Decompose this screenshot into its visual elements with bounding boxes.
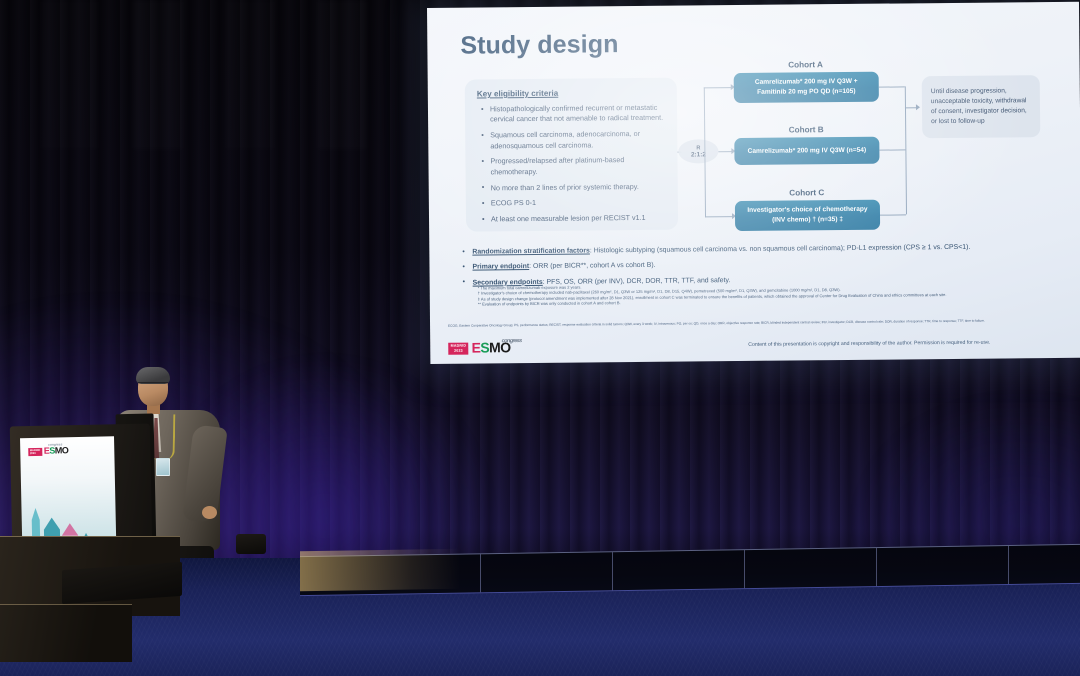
footnotes-block: * The maximum total camrelizumab exposur… — [478, 280, 1038, 307]
riser-seam — [876, 548, 877, 586]
endpoint-label: Primary endpoint — [472, 263, 529, 271]
list-item: Histopathologically confirmed recurrent … — [481, 103, 667, 126]
speaker-badge — [156, 458, 170, 476]
riser-seam — [744, 550, 745, 588]
eligibility-list: Histopathologically confirmed recurrent … — [481, 103, 668, 225]
copyright-notice: Content of this presentation is copyrigh… — [748, 340, 990, 348]
slide-title: Study design — [460, 30, 618, 61]
esmo-wordmark: ESMO congress — [472, 340, 511, 354]
esmo-congress-logo: MADRID 2023 ESMO congress — [448, 336, 510, 355]
eligibility-heading: Key eligibility criteria — [477, 88, 677, 99]
conference-hall-scene: Study design Key eligibility criteria Hi… — [0, 0, 1080, 676]
esmo-letter-m: M — [489, 339, 500, 355]
connector-line — [879, 149, 905, 150]
list-item: At least one measurable lesion per RECIS… — [482, 213, 668, 225]
key-eligibility-criteria-panel: Key eligibility criteria Histopathologic… — [465, 78, 678, 232]
podium-madrid-badge: MADRID 2023 — [28, 447, 42, 455]
cohort-a-label: Cohort A — [736, 60, 876, 70]
presentation-slide: Study design Key eligibility criteria Hi… — [427, 2, 1080, 364]
list-item: Squamous cell carcinoma, adenocarcinoma,… — [481, 129, 667, 152]
connector-line — [704, 87, 732, 88]
riser-seam — [1008, 546, 1009, 584]
connector-line — [718, 151, 732, 152]
podium-madrid-line2: 2023 — [30, 451, 40, 454]
podium-esmo-logo: MADRID 2023 ESMO — [28, 446, 68, 456]
cohort-a-box: Camrelizumab* 200 mg IV Q3W + Famitinib … — [734, 72, 879, 103]
connector-arrow — [916, 104, 920, 110]
connector-line — [880, 214, 906, 215]
cohort-c-box: Investigator's choice of chemotherapy (I… — [735, 200, 880, 231]
endpoint-text: : ORR (per BICR**, cohort A vs cohort B)… — [529, 262, 655, 270]
cohort-b-box: Camrelizumab* 200 mg IV Q3W (n=54) — [734, 137, 879, 165]
connector-line — [905, 86, 907, 214]
list-item: Progressed/relapsed after platinum-based… — [481, 155, 667, 178]
glasses-icon — [138, 382, 168, 388]
endpoint-label: Randomization stratification factors — [472, 247, 590, 255]
projection-screen: Study design Key eligibility criteria Hi… — [427, 2, 1080, 364]
list-item: Primary endpoint: ORR (per BICR**, cohor… — [459, 257, 1059, 272]
list-item: Randomization stratification factors: Hi… — [459, 242, 1059, 257]
ceiling-lighting-rig — [40, 0, 460, 150]
projection-screen-surface: Study design Key eligibility criteria Hi… — [427, 2, 1080, 364]
connector-line — [705, 216, 733, 217]
esmo-letter-s: S — [480, 339, 489, 355]
randomization-node: R 2:1:2 — [678, 139, 718, 163]
madrid-2023-badge: MADRID 2023 — [448, 343, 468, 355]
list-item: ECOG PS 0-1 — [482, 197, 668, 209]
esmo-congress-text: congress — [501, 334, 521, 348]
endpoint-text: : Histologic subtyping (squamous cell ca… — [590, 244, 970, 255]
cohort-c-label: Cohort C — [737, 188, 877, 198]
riser-seam — [612, 552, 613, 590]
podium-esmo-wordmark: ESMO — [44, 446, 69, 456]
riser-seam — [480, 554, 481, 592]
list-item: No more than 2 lines of prior systemic t… — [482, 181, 668, 193]
stage-floor-speaker — [236, 534, 266, 554]
connector-line — [879, 86, 905, 87]
madrid-badge-line2: 2023 — [451, 349, 467, 354]
podium-letter-mo: MO — [55, 445, 69, 455]
esmo-letter-e: E — [472, 340, 481, 356]
treatment-duration-box: Until disease progression, unacceptable … — [922, 75, 1041, 138]
podium-congress-text: congress — [48, 442, 62, 446]
cohort-b-label: Cohort B — [736, 125, 876, 135]
abbreviations-text: ECOG, Eastern Cooperative Oncology Group… — [448, 318, 1060, 328]
riser-warm-glow — [300, 549, 460, 592]
speaker-hand — [202, 506, 217, 519]
stage-step-lower — [0, 604, 132, 662]
